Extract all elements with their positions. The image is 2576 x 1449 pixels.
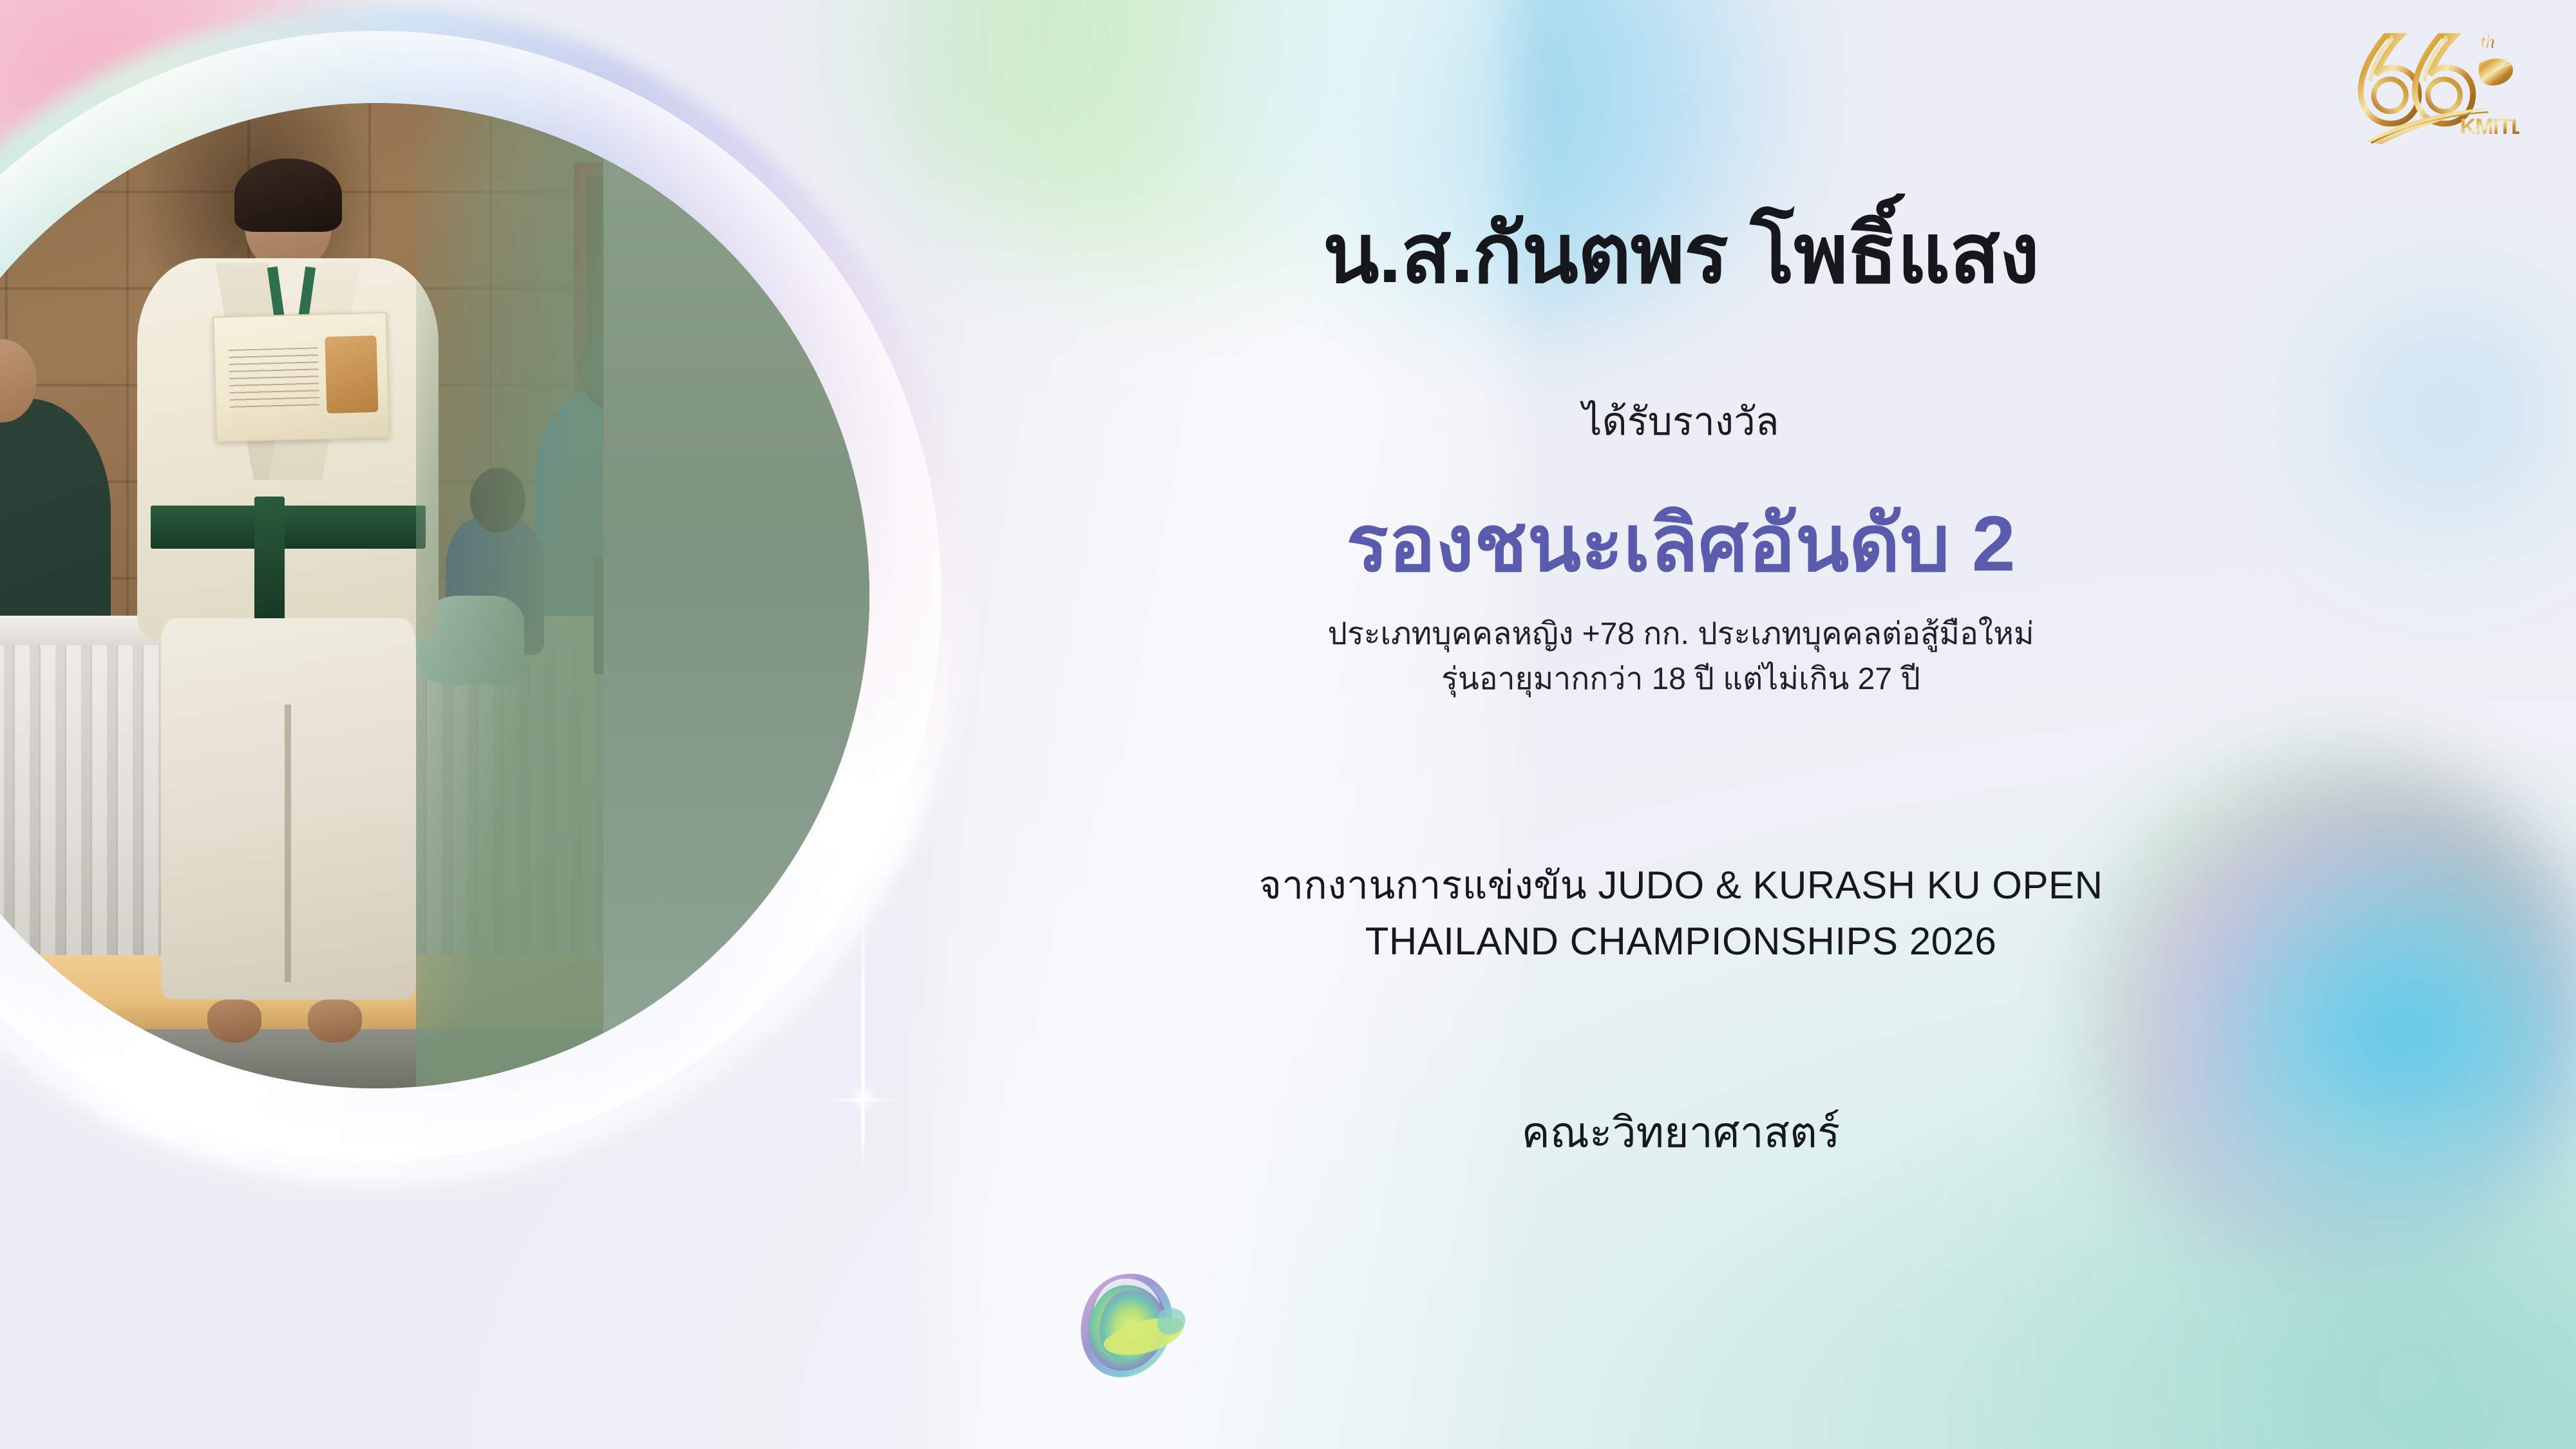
athlete-award-photo: [0, 103, 869, 1088]
photo-certificate-text-lines: [229, 347, 319, 408]
event-name: จากงานการแข่งขัน JUDO & KURASH KU OPEN T…: [1259, 857, 2103, 969]
photo-trouser-seam: [285, 705, 291, 982]
award-card: th KMITL: [0, 0, 2576, 1449]
award-category: ประเภทบุคคลหญิง +78 กก. ประเภทบุคคลต่อสู…: [1328, 612, 2034, 701]
photo-certificate: [213, 312, 390, 442]
svg-text:KMITL: KMITL: [2460, 115, 2519, 139]
event-name-line-2: THAILAND CHAMPIONSHIPS 2026: [1259, 913, 2103, 969]
kmitl-66th-anniversary-logo: th KMITL: [2326, 14, 2519, 162]
photo-athlete: [120, 167, 455, 1034]
photo-medallion: [0, 6, 966, 1185]
award-label: ได้รับรางวัล: [1582, 401, 1779, 443]
award-title: รองชนะเลิศอันดับ 2: [1346, 502, 2015, 585]
photo-scene: [0, 103, 869, 1088]
photo-green-panel: [603, 103, 869, 1088]
photo-belt-knot: [254, 497, 285, 635]
event-name-line-1: จากงานการแข่งขัน JUDO & KURASH KU OPEN: [1259, 857, 2103, 913]
svg-text:th: th: [2481, 32, 2495, 52]
award-category-line-1: ประเภทบุคคลหญิง +78 กก. ประเภทบุคคลต่อสู…: [1328, 612, 2034, 656]
faculty-name: คณะวิทยาศาสตร์: [1522, 1107, 1841, 1158]
recipient-name: น.ส.กันตพร โพธิ์แสง: [1323, 211, 2039, 298]
award-category-line-2: รุ่นอายุมากกว่า 18 ปี แต่ไม่เกิน 27 ปี: [1328, 657, 2034, 701]
award-text-column: น.ส.กันตพร โพธิ์แสง ได้รับรางวัล รองชนะเ…: [1043, 0, 2318, 1449]
photo-athlete-foot-left: [207, 999, 261, 1043]
photo-athlete-foot-right: [308, 999, 361, 1043]
photo-green-belt: [151, 506, 426, 549]
photo-athlete-hair: [234, 158, 341, 232]
